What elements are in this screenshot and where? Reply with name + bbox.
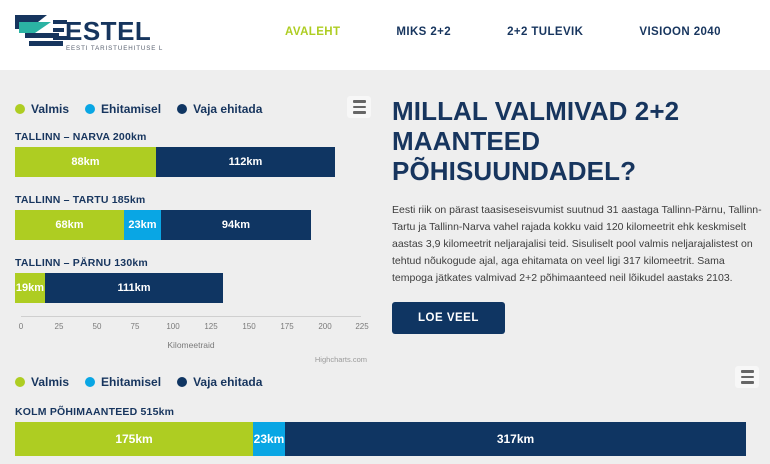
- highcharts-credits[interactable]: Highcharts.com: [315, 355, 367, 364]
- legend-item-valmis[interactable]: Valmis: [15, 375, 69, 389]
- site-logo[interactable]: ESTEL EESTI TARISTUEHITUSE LIIT: [13, 9, 163, 55]
- x-axis-title: Kilomeetraid: [15, 340, 367, 350]
- logo-wordmark: ESTEL: [65, 16, 151, 46]
- chart-context-menu-button-top[interactable]: [347, 96, 371, 118]
- legend-item-ehitamisel[interactable]: Ehitamisel: [85, 375, 161, 389]
- bar-segment-valmis[interactable]: 68km: [15, 210, 124, 240]
- x-tick: 200: [318, 322, 331, 331]
- hamburger-icon-line: [353, 106, 366, 109]
- hero-content: MILLAL VALMIVAD 2+2 MAANTEED PÕHISUUNDAD…: [392, 96, 762, 334]
- legend-swatch-ehitamisel: [85, 104, 95, 114]
- x-tick: 175: [280, 322, 293, 331]
- hamburger-icon-line: [741, 381, 754, 384]
- bar-segment-ehitamisel[interactable]: 23km: [253, 422, 285, 456]
- x-tick: 0: [19, 322, 23, 331]
- read-more-button[interactable]: LOE VEEL: [392, 302, 505, 334]
- legend-label-valmis: Valmis: [31, 102, 69, 116]
- chart-top-three-roads: Valmis Ehitamisel Vaja ehitada TALLINN –…: [7, 93, 375, 368]
- hamburger-icon-line: [353, 111, 366, 114]
- logo-subtitle: EESTI TARISTUEHITUSE LIIT: [66, 45, 163, 52]
- hamburger-icon-line: [741, 370, 754, 373]
- legend-label-vaja-ehitada: Vaja ehitada: [193, 375, 262, 389]
- stacked-bar-tallinn-parnu: 19km 111km: [15, 273, 223, 303]
- bar-segment-valmis[interactable]: 19km: [15, 273, 45, 303]
- nav-item-2plus2-tulevik[interactable]: 2+2 TULEVIK: [507, 22, 583, 42]
- chart-bottom-total: Valmis Ehitamisel Vaja ehitada KOLM PÕHI…: [7, 366, 763, 462]
- bar-segment-vaja-ehitada[interactable]: 112km: [156, 147, 335, 177]
- hero-panel: Valmis Ehitamisel Vaja ehitada TALLINN –…: [0, 70, 770, 464]
- hamburger-icon-line: [741, 376, 754, 379]
- bar-label-kolm-pohimaanteed: KOLM PÕHIMAANTEED 515km: [15, 406, 755, 418]
- stacked-bar-tallinn-tartu: 68km 23km 94km: [15, 210, 311, 240]
- legend-swatch-ehitamisel: [85, 377, 95, 387]
- bar-segment-ehitamisel[interactable]: 23km: [124, 210, 161, 240]
- main-nav: AVALEHT MIKS 2+2 2+2 TULEVIK VISIOON 204…: [285, 0, 721, 64]
- chart-legend-bottom: Valmis Ehitamisel Vaja ehitada: [15, 375, 278, 389]
- legend-item-valmis[interactable]: Valmis: [15, 102, 69, 116]
- nav-item-miks-2plus2[interactable]: MIKS 2+2: [396, 22, 451, 42]
- hamburger-icon-line: [353, 100, 366, 103]
- x-tick: 75: [131, 322, 140, 331]
- legend-item-vaja-ehitada[interactable]: Vaja ehitada: [177, 375, 262, 389]
- chart-legend-top: Valmis Ehitamisel Vaja ehitada: [15, 102, 278, 116]
- site-header: ESTEL EESTI TARISTUEHITUSE LIIT AVALEHT …: [0, 0, 770, 64]
- legend-label-ehitamisel: Ehitamisel: [101, 375, 161, 389]
- legend-label-valmis: Valmis: [31, 375, 69, 389]
- legend-swatch-vaja-ehitada: [177, 104, 187, 114]
- x-tick: 50: [93, 322, 102, 331]
- legend-swatch-valmis: [15, 104, 25, 114]
- bar-segment-vaja-ehitada[interactable]: 94km: [161, 210, 311, 240]
- legend-label-vaja-ehitada: Vaja ehitada: [193, 102, 262, 116]
- legend-swatch-valmis: [15, 377, 25, 387]
- bar-group-tallinn-parnu: TALLINN – PÄRNU 130km 19km 111km: [15, 257, 223, 303]
- legend-swatch-vaja-ehitada: [177, 377, 187, 387]
- x-tick: 125: [204, 322, 217, 331]
- legend-label-ehitamisel: Ehitamisel: [101, 102, 161, 116]
- chart-context-menu-button-bottom[interactable]: [735, 366, 759, 388]
- stacked-bar-kolm-pohimaanteed: 175km 23km 317km: [15, 422, 755, 456]
- nav-item-visioon-2040[interactable]: VISIOON 2040: [639, 22, 721, 42]
- estel-logo-mark: ESTEL EESTI TARISTUEHITUSE LIIT: [13, 9, 163, 55]
- bar-segment-valmis[interactable]: 175km: [15, 422, 253, 456]
- bar-group-tallinn-tartu: TALLINN – TARTU 185km 68km 23km 94km: [15, 194, 311, 240]
- bar-segment-valmis[interactable]: 88km: [15, 147, 156, 177]
- legend-item-vaja-ehitada[interactable]: Vaja ehitada: [177, 102, 262, 116]
- bar-segment-vaja-ehitada[interactable]: 317km: [285, 422, 746, 456]
- hero-paragraph: Eesti riik on pärast taasiseseisvumist s…: [392, 202, 762, 287]
- bar-label-tallinn-narva: TALLINN – NARVA 200km: [15, 131, 335, 143]
- bar-group-kolm-pohimaanteed: KOLM PÕHIMAANTEED 515km 175km 23km 317km: [15, 406, 755, 456]
- stacked-bar-tallinn-narva: 88km 112km: [15, 147, 335, 177]
- bar-segment-vaja-ehitada[interactable]: 111km: [45, 273, 223, 303]
- x-tick: 150: [242, 322, 255, 331]
- bar-label-tallinn-parnu: TALLINN – PÄRNU 130km: [15, 257, 223, 269]
- bar-group-tallinn-narva: TALLINN – NARVA 200km 88km 112km: [15, 131, 335, 177]
- nav-item-avaleht[interactable]: AVALEHT: [285, 22, 340, 42]
- legend-item-ehitamisel[interactable]: Ehitamisel: [85, 102, 161, 116]
- page-root: ESTEL EESTI TARISTUEHITUSE LIIT AVALEHT …: [0, 0, 770, 464]
- x-tick: 225: [355, 322, 368, 331]
- x-tick: 100: [166, 322, 179, 331]
- x-tick: 25: [55, 322, 64, 331]
- page-title: MILLAL VALMIVAD 2+2 MAANTEED PÕHISUUNDAD…: [392, 96, 762, 186]
- axis-line: [21, 316, 361, 317]
- bar-label-tallinn-tartu: TALLINN – TARTU 185km: [15, 194, 311, 206]
